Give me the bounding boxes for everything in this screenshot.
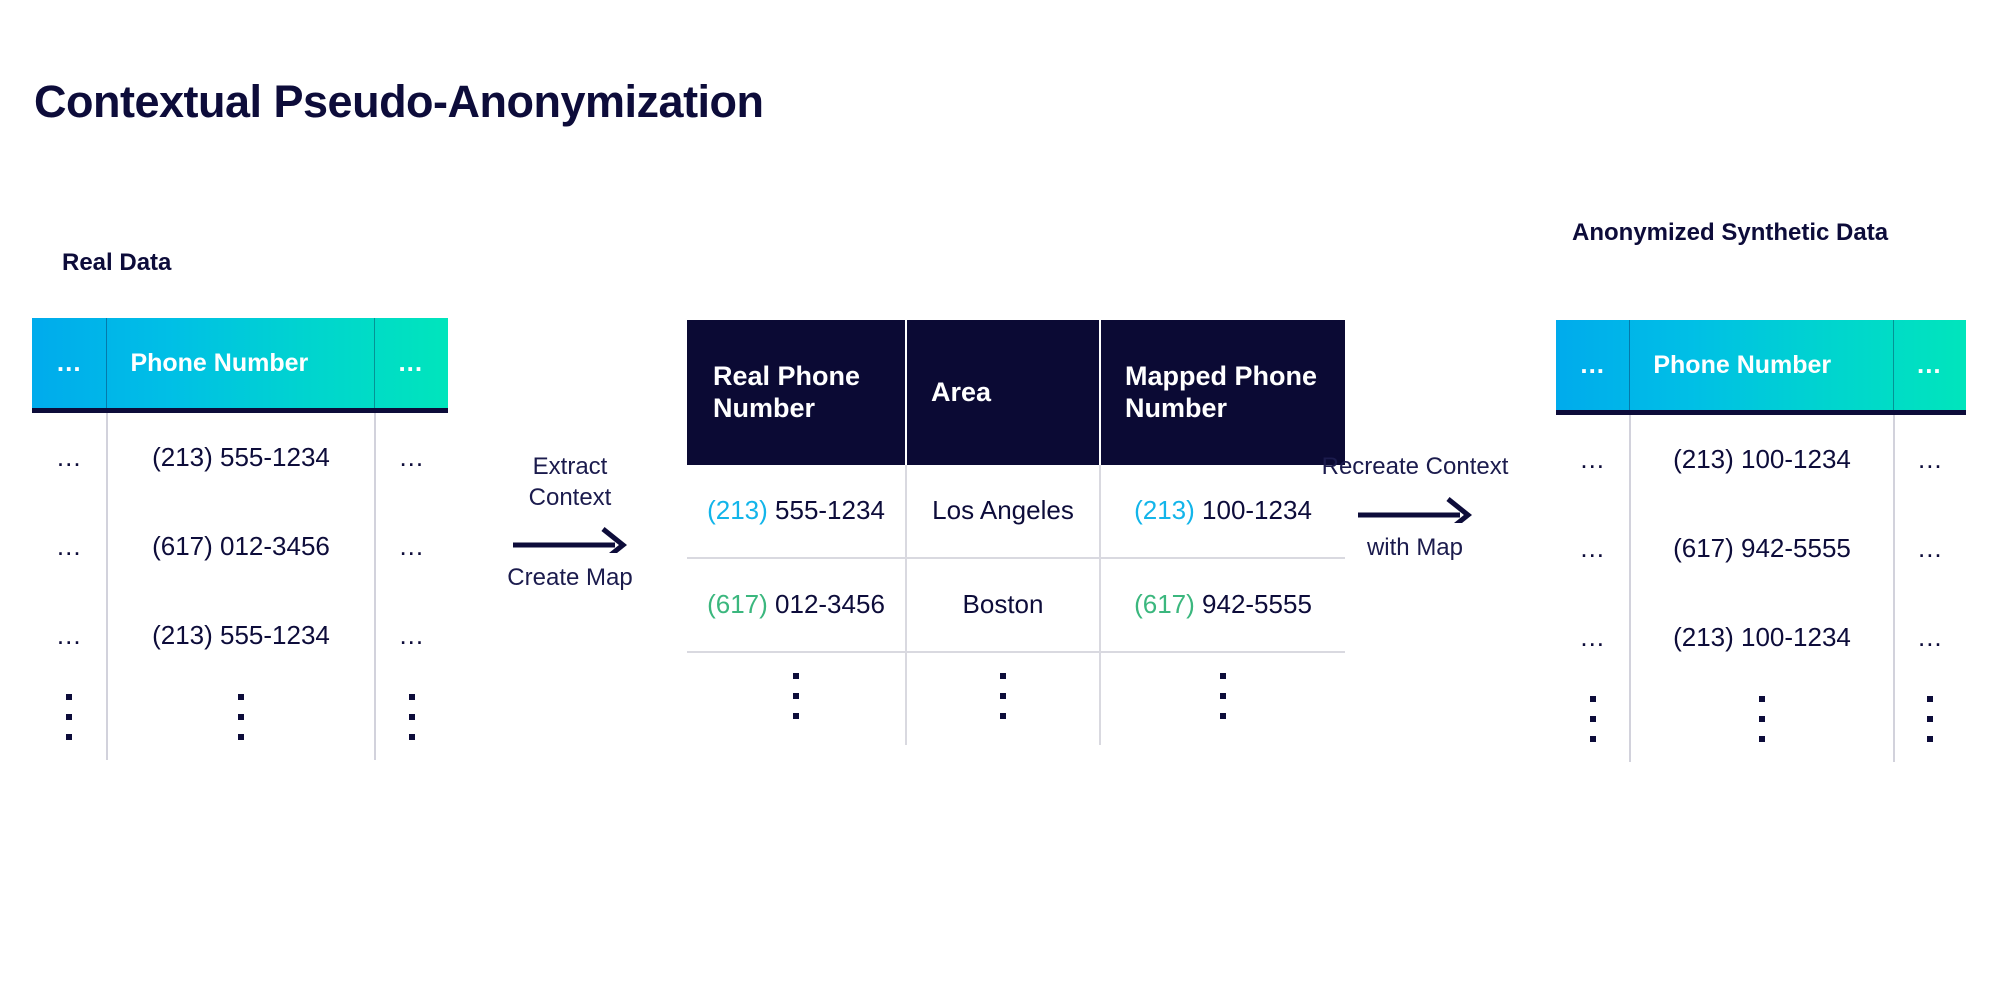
column-header-real-phone-number: Real Phone Number xyxy=(687,320,905,465)
cell-leading-ellipsis: ... xyxy=(1556,593,1629,682)
recreate-context-arrow-group: Recreate Context with Map xyxy=(1300,452,1530,563)
arrow-right-icon xyxy=(1300,493,1530,527)
vertical-ellipsis-icon xyxy=(238,694,244,740)
column-header-phone-number: Phone Number xyxy=(1629,320,1892,415)
column-header-mapped-phone-number: Mapped Phone Number xyxy=(1099,320,1345,465)
cell-continuation xyxy=(374,680,448,760)
synthetic-data-table-body: ... (213) 100-1234 ... ... (617) 942-555… xyxy=(1556,415,1966,762)
cell-continuation xyxy=(687,653,905,745)
table-continuation-row xyxy=(687,653,1345,745)
synthetic-data-caption: Anonymized Synthetic Data xyxy=(1572,218,1902,247)
cell-trailing-ellipsis: ... xyxy=(374,502,448,591)
cell-leading-ellipsis: ... xyxy=(32,591,106,680)
extract-context-arrow-group: Extract Context Create Map xyxy=(495,452,645,594)
cell-phone-number: (213) 100-1234 xyxy=(1629,415,1892,504)
cell-mapped-phone-number: (617) 942-5555 xyxy=(1099,559,1345,653)
ellipsis-icon: ... xyxy=(399,444,424,470)
cell-phone-number: (213) 100-1234 xyxy=(1629,593,1892,682)
vertical-ellipsis-icon xyxy=(1927,696,1933,742)
cell-leading-ellipsis: ... xyxy=(1556,415,1629,504)
cell-real-phone-number: (617) 012-3456 xyxy=(687,559,905,653)
ellipsis-icon: ... xyxy=(57,533,82,559)
table-row: (617) 012-3456 Boston (617) 942-5555 xyxy=(687,559,1345,653)
ellipsis-icon: ... xyxy=(1580,624,1605,650)
synthetic-data-table-head: ... Phone Number ... xyxy=(1556,320,1966,415)
cell-trailing-ellipsis: ... xyxy=(374,591,448,680)
phone-body-token: 555-1234 xyxy=(768,495,885,525)
cell-phone-number: (617) 012-3456 xyxy=(106,502,373,591)
ellipsis-icon: ... xyxy=(1580,535,1605,561)
arrow-label-top: Recreate Context xyxy=(1300,452,1530,483)
table-row: ... (213) 100-1234 ... xyxy=(1556,415,1966,504)
cell-leading-ellipsis: ... xyxy=(32,502,106,591)
cell-phone-number: (213) 555-1234 xyxy=(106,413,373,502)
ellipsis-icon: ... xyxy=(1917,351,1942,377)
cell-leading-ellipsis: ... xyxy=(32,413,106,502)
ellipsis-icon: ... xyxy=(57,444,82,470)
table-continuation-row xyxy=(1556,682,1966,762)
table-row: ... (213) 555-1234 ... xyxy=(32,413,448,502)
column-header-leading-ellipsis: ... xyxy=(32,318,106,413)
column-header-trailing-ellipsis: ... xyxy=(374,318,448,413)
vertical-ellipsis-icon xyxy=(1220,673,1226,719)
table-continuation-row xyxy=(32,680,448,760)
arrow-right-icon xyxy=(495,523,645,557)
cell-trailing-ellipsis: ... xyxy=(1893,504,1966,593)
vertical-ellipsis-icon xyxy=(1759,696,1765,742)
synthetic-data-table: ... Phone Number ... ... (213) 100-1234 … xyxy=(1556,320,1966,762)
mapping-table: Real Phone Number Area Mapped Phone Numb… xyxy=(687,320,1345,745)
real-data-caption: Real Data xyxy=(62,248,171,277)
real-data-table: ... Phone Number ... ... (213) 555-1234 … xyxy=(32,318,448,760)
cell-continuation xyxy=(1556,682,1629,762)
table-row: (213) 555-1234 Los Angeles (213) 100-123… xyxy=(687,465,1345,559)
arrow-label-bottom: Create Map xyxy=(495,563,645,594)
vertical-ellipsis-icon xyxy=(793,673,799,719)
table-header-row: ... Phone Number ... xyxy=(32,318,448,413)
cell-real-phone-number: (213) 555-1234 xyxy=(687,465,905,559)
column-header-trailing-ellipsis: ... xyxy=(1893,320,1966,415)
ellipsis-icon: ... xyxy=(1580,351,1605,377)
mapping-table-body: (213) 555-1234 Los Angeles (213) 100-123… xyxy=(687,465,1345,745)
phone-body-token: 100-1234 xyxy=(1195,495,1312,525)
ellipsis-icon: ... xyxy=(57,622,82,648)
area-code-token: (617) xyxy=(707,589,768,619)
cell-phone-number: (213) 555-1234 xyxy=(106,591,373,680)
ellipsis-icon: ... xyxy=(398,349,423,375)
cell-trailing-ellipsis: ... xyxy=(1893,593,1966,682)
ellipsis-icon: ... xyxy=(57,349,82,375)
cell-area: Los Angeles xyxy=(905,465,1099,559)
real-data-table-head: ... Phone Number ... xyxy=(32,318,448,413)
column-header-phone-number: Phone Number xyxy=(106,318,373,413)
table-header-row: Real Phone Number Area Mapped Phone Numb… xyxy=(687,320,1345,465)
table-header-row: ... Phone Number ... xyxy=(1556,320,1966,415)
cell-continuation xyxy=(1629,682,1892,762)
cell-continuation xyxy=(106,680,373,760)
cell-trailing-ellipsis: ... xyxy=(374,413,448,502)
page-title: Contextual Pseudo-Anonymization xyxy=(34,76,764,128)
table-row: ... (213) 555-1234 ... xyxy=(32,591,448,680)
ellipsis-icon: ... xyxy=(1580,446,1605,472)
cell-continuation xyxy=(1893,682,1966,762)
area-code-token: (617) xyxy=(1134,589,1195,619)
column-header-area: Area xyxy=(905,320,1099,465)
arrow-label-top: Extract Context xyxy=(495,452,645,513)
area-code-token: (213) xyxy=(1134,495,1195,525)
cell-continuation xyxy=(905,653,1099,745)
area-code-token: (213) xyxy=(707,495,768,525)
vertical-ellipsis-icon xyxy=(409,694,415,740)
table-row: ... (617) 942-5555 ... xyxy=(1556,504,1966,593)
cell-area: Boston xyxy=(905,559,1099,653)
table-row: ... (617) 012-3456 ... xyxy=(32,502,448,591)
arrow-label-bottom: with Map xyxy=(1300,533,1530,564)
ellipsis-icon: ... xyxy=(1918,624,1943,650)
ellipsis-icon: ... xyxy=(1918,446,1943,472)
cell-leading-ellipsis: ... xyxy=(1556,504,1629,593)
phone-body-token: 942-5555 xyxy=(1195,589,1312,619)
ellipsis-icon: ... xyxy=(399,622,424,648)
cell-continuation xyxy=(1099,653,1345,745)
mapping-table-head: Real Phone Number Area Mapped Phone Numb… xyxy=(687,320,1345,465)
ellipsis-icon: ... xyxy=(1918,535,1943,561)
phone-body-token: 012-3456 xyxy=(768,589,885,619)
real-data-table-body: ... (213) 555-1234 ... ... (617) 012-345… xyxy=(32,413,448,760)
cell-trailing-ellipsis: ... xyxy=(1893,415,1966,504)
cell-continuation xyxy=(32,680,106,760)
vertical-ellipsis-icon xyxy=(66,694,72,740)
vertical-ellipsis-icon xyxy=(1000,673,1006,719)
cell-phone-number: (617) 942-5555 xyxy=(1629,504,1892,593)
ellipsis-icon: ... xyxy=(399,533,424,559)
table-row: ... (213) 100-1234 ... xyxy=(1556,593,1966,682)
column-header-leading-ellipsis: ... xyxy=(1556,320,1629,415)
vertical-ellipsis-icon xyxy=(1590,696,1596,742)
